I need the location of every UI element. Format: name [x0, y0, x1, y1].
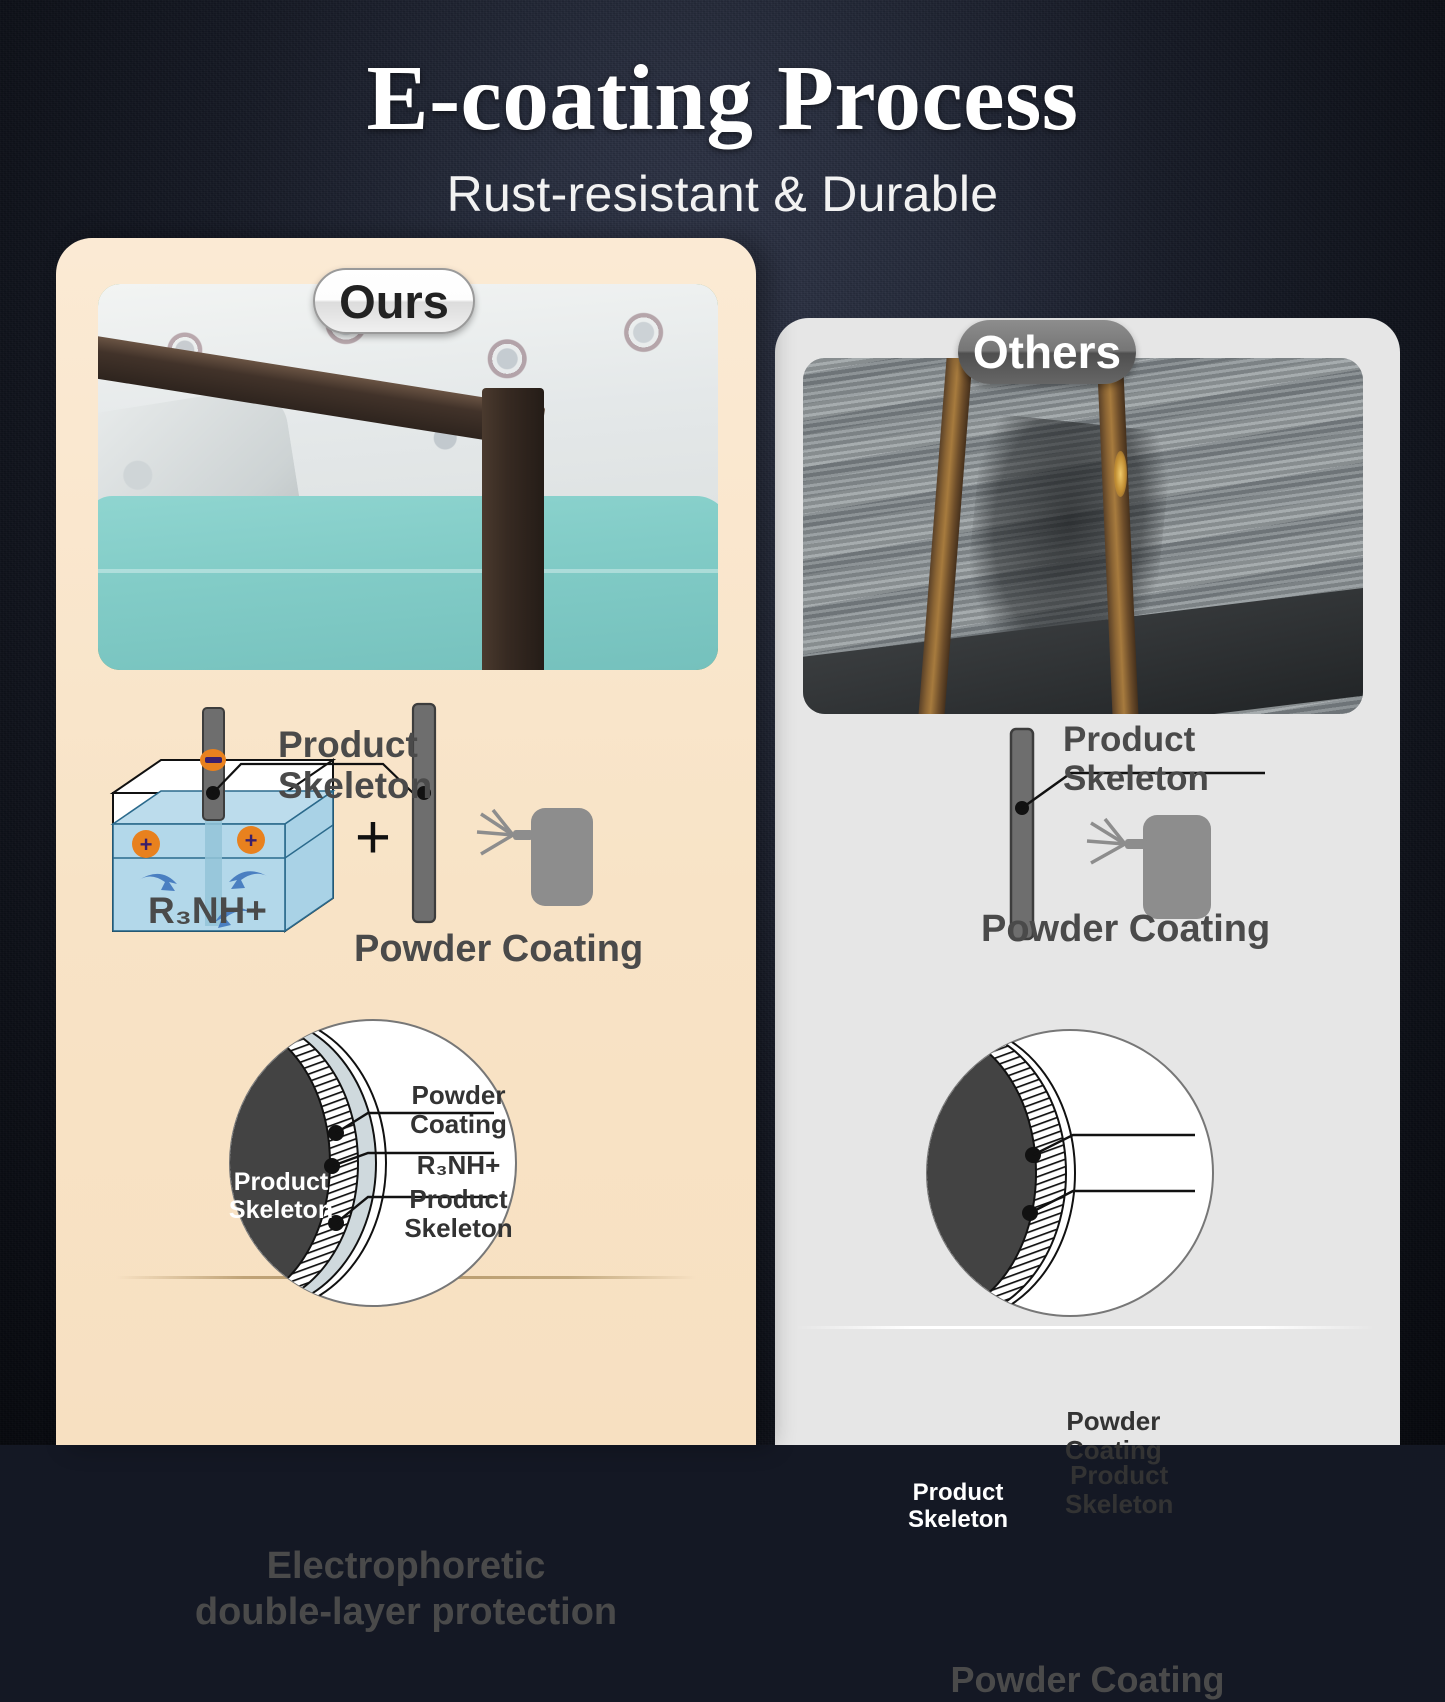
ours-skeleton-label: Product Skeleton [278, 724, 432, 807]
page-title: E-coating Process [0, 52, 1445, 147]
others-layer-label-powder: Powder Coating [1065, 1407, 1162, 1465]
positive-ion-right: + [237, 826, 265, 854]
others-skeleton-label: Product Skeleton [1063, 720, 1209, 798]
plus-operator: + [355, 803, 391, 872]
rust-spot [1114, 451, 1127, 497]
ours-layer-label-solution: R₃NH+ [386, 1151, 531, 1180]
spray-gun-nozzle [513, 830, 533, 840]
others-photo [803, 358, 1363, 714]
svg-text:+: + [140, 832, 153, 857]
others-core-label: Product Skeleton [903, 1480, 1013, 1534]
ours-layer-label-powder: Powder Coating [386, 1081, 531, 1139]
product-skeleton-core [126, 1021, 330, 1305]
ours-core-label: Product Skeleton [216, 1168, 346, 1224]
others-caption: Powder Coating [795, 1658, 1380, 1702]
svg-text:+: + [245, 828, 258, 853]
minus-sign [205, 757, 222, 763]
others-badge: Others [958, 320, 1136, 384]
spray-gun-body [1143, 815, 1211, 919]
ours-caption: Electrophoretic double-layer protection [96, 1543, 716, 1636]
spray-lines-icon [477, 810, 513, 854]
header: E-coating Process Rust-resistant & Durab… [0, 0, 1445, 223]
ours-badge: Ours [313, 268, 475, 334]
ours-photo [98, 284, 718, 670]
others-divider [795, 1326, 1375, 1329]
others-panel: Product Skeleton Powder Coating Powder C… [775, 318, 1400, 1445]
ours-panel: + + + Product Skeleton R₃NH+ Powder Coat… [56, 238, 756, 1445]
chair-leg-frame [482, 388, 544, 670]
others-cross-section-diagram [905, 1023, 1235, 1323]
others-powder-label: Powder Coating [981, 908, 1270, 951]
ours-layer-label-skeleton: Product Skeleton [386, 1185, 531, 1243]
spray-gun-nozzle [1125, 839, 1147, 849]
ours-solution-label: R₃NH+ [148, 890, 267, 931]
spray-gun-body [531, 808, 593, 906]
product-skeleton-core [828, 1030, 1036, 1316]
spray-lines-icon [1087, 819, 1125, 863]
page-subtitle: Rust-resistant & Durable [0, 165, 1445, 223]
ours-powder-label: Powder Coating [354, 928, 643, 971]
positive-ion-left: + [132, 830, 160, 858]
teal-seat-cushion [98, 496, 718, 670]
others-layer-label-skeleton: Product Skeleton [1065, 1461, 1173, 1519]
